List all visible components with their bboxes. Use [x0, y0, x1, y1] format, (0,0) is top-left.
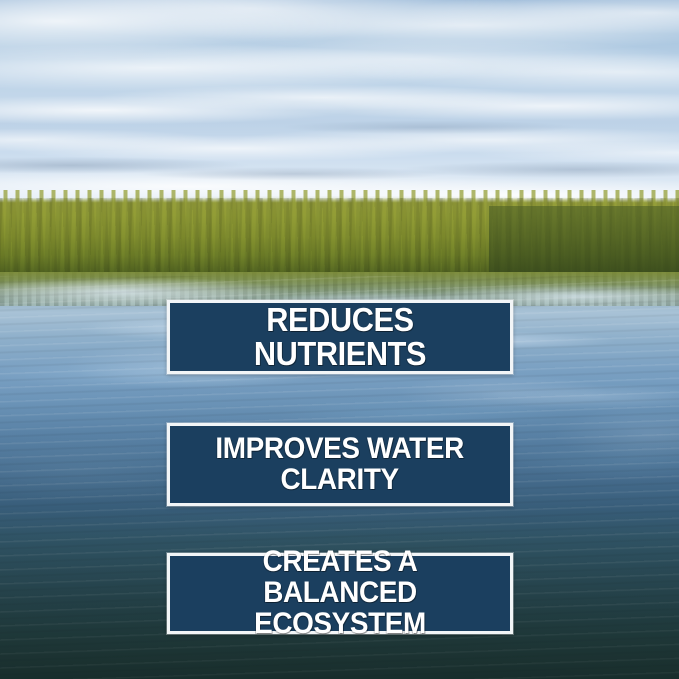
product-benefits-poster: REDUCES NUTRIENTS IMPROVES WATER CLARITY…: [0, 0, 679, 679]
benefit-banner-creates-a-balanced-ecosystem: CREATES A BALANCED ECOSYSTEM: [167, 553, 513, 634]
benefit-banner-reduces-nutrients: REDUCES NUTRIENTS: [167, 300, 513, 374]
benefit-banner-label: REDUCES NUTRIENTS: [191, 303, 489, 371]
benefit-banner-group: REDUCES NUTRIENTS IMPROVES WATER CLARITY…: [0, 0, 679, 679]
benefit-banner-improves-water-clarity: IMPROVES WATER CLARITY: [167, 423, 513, 506]
benefit-banner-label: CREATES A BALANCED ECOSYSTEM: [191, 547, 489, 640]
benefit-banner-label: IMPROVES WATER CLARITY: [215, 434, 463, 496]
